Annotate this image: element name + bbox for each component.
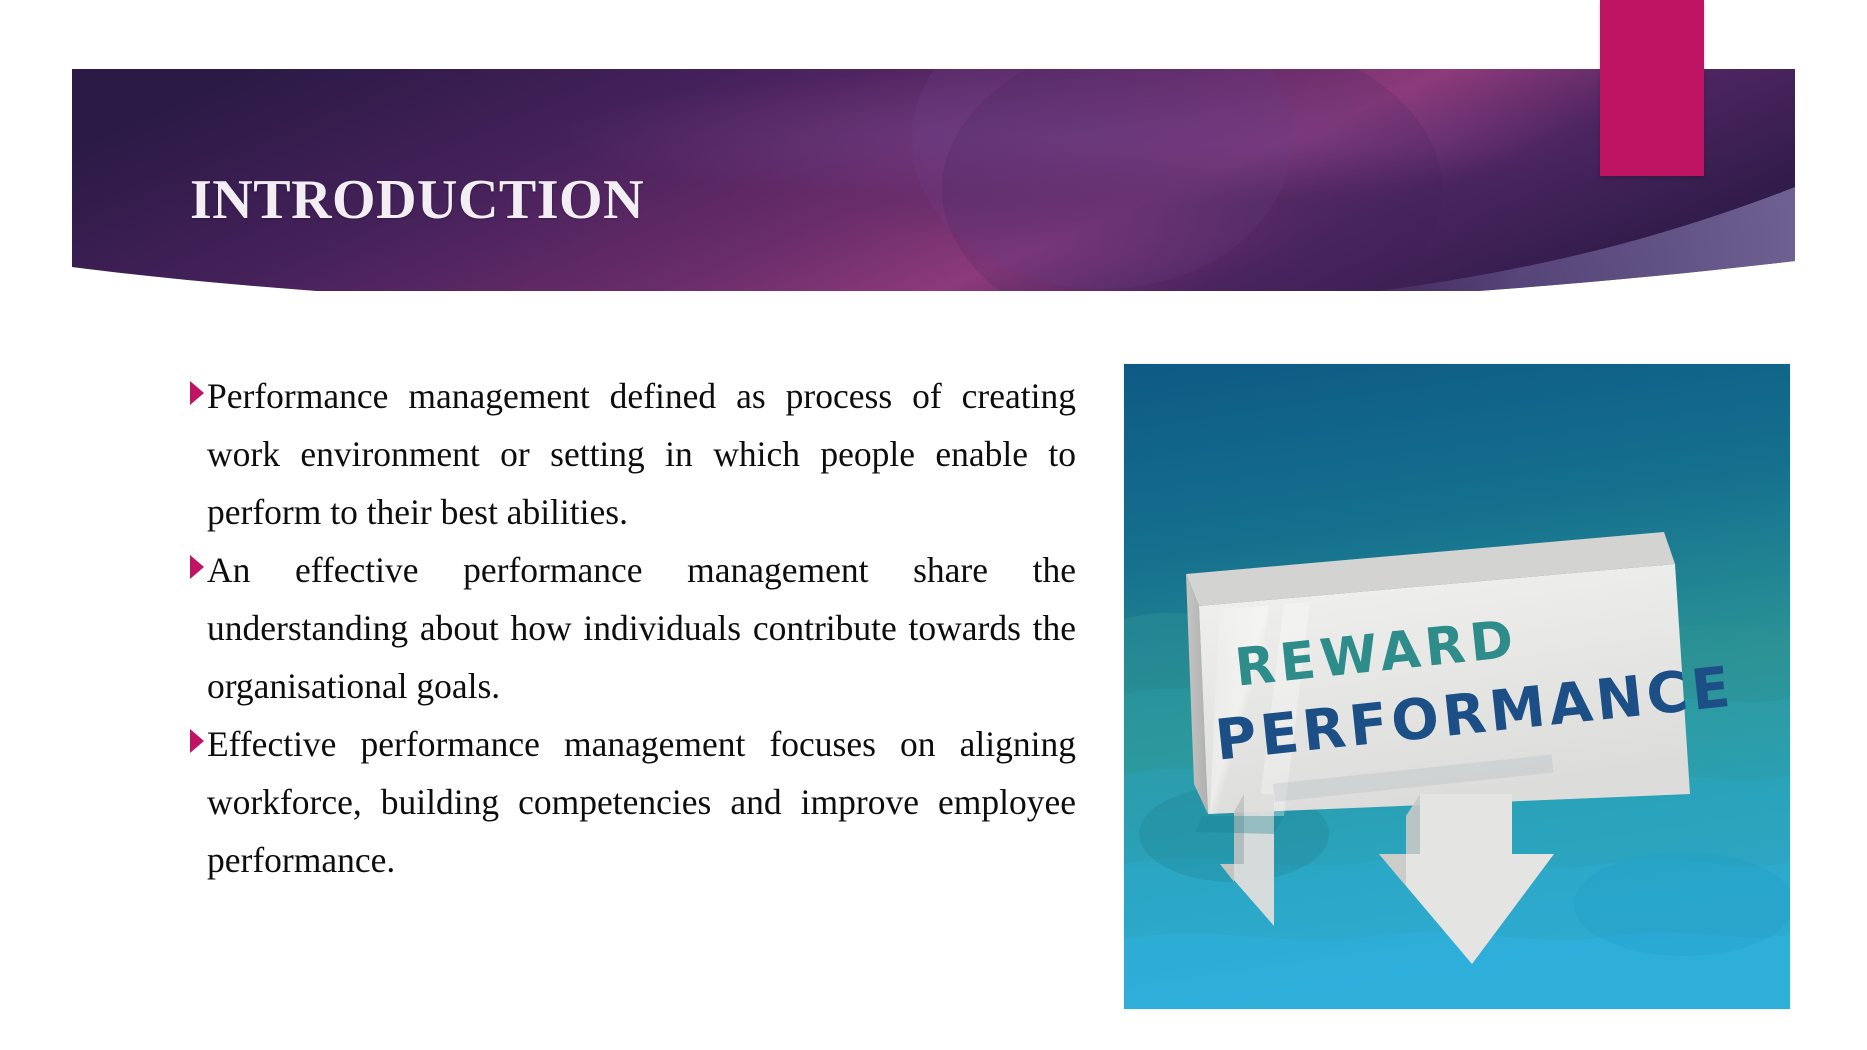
triangle-bullet-icon — [190, 555, 204, 579]
bullet-item: Effective performance management focuses… — [196, 715, 1076, 889]
triangle-bullet-icon — [190, 729, 204, 753]
bullet-text: An effective performance management shar… — [207, 550, 1076, 706]
body-text-block: Performance management defined as proces… — [196, 367, 1076, 889]
banner-shape — [72, 69, 1795, 291]
bullet-item: Performance management defined as proces… — [196, 367, 1076, 541]
slide-canvas: INTRODUCTION Performance management defi… — [0, 0, 1867, 1050]
reward-performance-image: REWARD PERFORMANCE — [1124, 364, 1790, 1009]
accent-rectangle — [1600, 0, 1704, 176]
bullet-item: An effective performance management shar… — [196, 541, 1076, 715]
bullet-text: Performance management defined as proces… — [207, 376, 1076, 532]
triangle-bullet-icon — [190, 381, 204, 405]
page-title: INTRODUCTION — [190, 168, 644, 232]
bullet-text: Effective performance management focuses… — [207, 724, 1076, 880]
slide-header-banner: INTRODUCTION — [0, 0, 1867, 350]
